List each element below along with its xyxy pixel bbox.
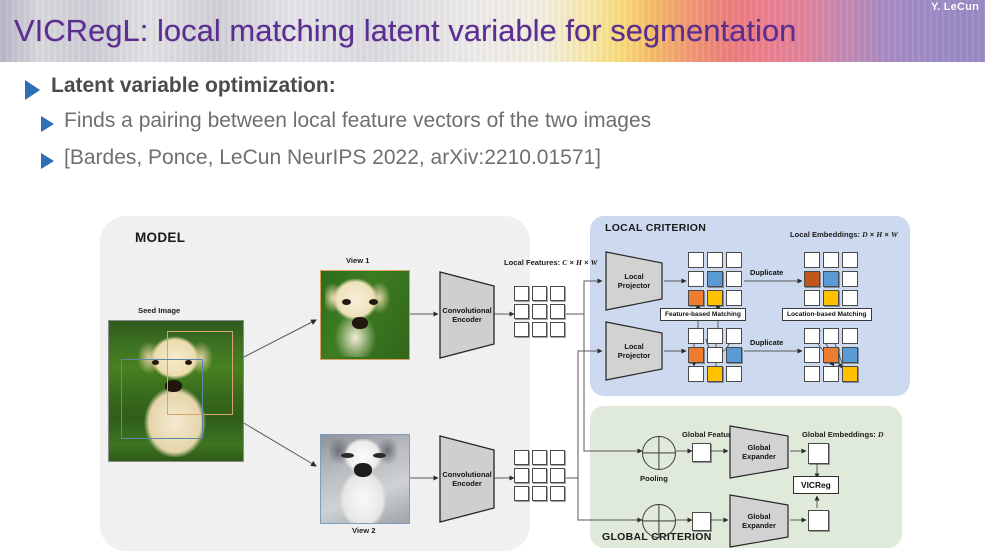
- embedding-cell: [726, 252, 742, 268]
- author-attribution: Y. LeCun: [931, 1, 979, 13]
- embedding-cell: [804, 328, 820, 344]
- embedding-cell-orange: [823, 347, 839, 363]
- duplicate-label-bottom: Duplicate: [750, 338, 783, 347]
- bullet-label-1: Latent variable optimization:: [51, 70, 336, 100]
- embedding-cell-orange: [688, 290, 704, 306]
- embedding-cell: [823, 252, 839, 268]
- pooling-circle-top: [642, 436, 676, 470]
- feature-cell: [550, 304, 565, 319]
- embedding-cell: [688, 328, 704, 344]
- feature-cell: [532, 468, 547, 483]
- embedding-cell-yellow: [707, 290, 723, 306]
- feature-cell: [550, 486, 565, 501]
- local-projector-label: LocalProjector: [604, 342, 664, 360]
- embedding-cell: [804, 290, 820, 306]
- view1-image: [320, 270, 410, 360]
- local-features-grid-top: [514, 286, 565, 337]
- view1-label: View 1: [346, 256, 370, 265]
- embedding-cell: [804, 252, 820, 268]
- feature-cell: [550, 286, 565, 301]
- local-embedding-grid-top-left: [688, 252, 742, 306]
- global-embedding-cell-top: [808, 443, 829, 464]
- embedding-cell-blue: [842, 347, 858, 363]
- embedding-cell: [688, 271, 704, 287]
- conv-encoder-label: ConvolutionalEncoder: [438, 306, 496, 324]
- global-expander-top: GlobalExpander: [728, 424, 790, 480]
- feature-cell: [532, 322, 547, 337]
- crop-box-blue: [121, 359, 203, 439]
- seed-image-label: Seed Image: [138, 306, 180, 315]
- triangle-right-icon: [41, 116, 54, 132]
- duplicate-label-top: Duplicate: [750, 268, 783, 277]
- embedding-cell: [688, 252, 704, 268]
- feature-cell: [514, 304, 529, 319]
- local-embedding-grid-top-right: [804, 252, 858, 306]
- embedding-cell-blue: [726, 347, 742, 363]
- embedding-cell-yellow: [842, 366, 858, 382]
- local-embeddings-label: Local Embeddings: D × H × W: [790, 230, 898, 239]
- feature-cell: [514, 486, 529, 501]
- triangle-right-icon: [41, 153, 54, 169]
- local-embedding-grid-bottom-left: [688, 328, 742, 382]
- dog-nose: [352, 317, 368, 329]
- global-expander-bottom: GlobalExpander: [728, 493, 790, 549]
- global-expander-label: GlobalExpander: [728, 512, 790, 530]
- feature-cell: [532, 486, 547, 501]
- dog-eye: [341, 453, 354, 458]
- dog-eye: [373, 453, 386, 458]
- feature-cell: [514, 286, 529, 301]
- local-panel-title: LOCAL CRITERION: [605, 222, 706, 234]
- view2-dog-illustration: [329, 439, 397, 523]
- embedding-cell-yellow: [823, 290, 839, 306]
- local-projector-label: LocalProjector: [604, 272, 664, 290]
- local-features-label: Local Features: C × H × W: [504, 258, 597, 267]
- seed-image: [108, 320, 244, 462]
- embedding-cell: [707, 252, 723, 268]
- feature-cell: [550, 322, 565, 337]
- dog-eye: [342, 299, 351, 305]
- bullet-item-1: Latent variable optimization:: [0, 70, 985, 100]
- dog-eye: [369, 299, 378, 305]
- bullet-item-3: [Bardes, Ponce, LeCun NeurIPS 2022, arXi…: [0, 143, 985, 172]
- bullet-label-3: [Bardes, Ponce, LeCun NeurIPS 2022, arXi…: [64, 143, 601, 172]
- embedding-cell: [726, 290, 742, 306]
- embedding-cell: [804, 366, 820, 382]
- feature-based-matching-box: Feature-based Matching: [660, 308, 746, 321]
- embedding-cell: [823, 328, 839, 344]
- embedding-cell: [842, 271, 858, 287]
- global-embedding-cell-bottom: [808, 510, 829, 531]
- convolutional-encoder-bottom: ConvolutionalEncoder: [438, 434, 496, 524]
- feature-cell: [514, 322, 529, 337]
- local-embedding-grid-bottom-right: [804, 328, 858, 382]
- embedding-cell-orange: [688, 347, 704, 363]
- embedding-cell-blue: [707, 271, 723, 287]
- feature-cell: [514, 450, 529, 465]
- local-projector-top: LocalProjector: [604, 250, 664, 312]
- bullet-list: Latent variable optimization: Finds a pa…: [0, 62, 985, 172]
- local-projector-bottom: LocalProjector: [604, 320, 664, 382]
- embedding-cell-yellow: [707, 366, 723, 382]
- pooling-label: Pooling: [640, 474, 668, 483]
- embedding-cell-dark-orange: [804, 271, 820, 287]
- embedding-cell: [842, 290, 858, 306]
- view2-image: [320, 434, 410, 524]
- embedding-cell: [842, 252, 858, 268]
- page-title: VICRegL: local matching latent variable …: [14, 11, 796, 51]
- embedding-cell: [726, 366, 742, 382]
- architecture-diagram: MODEL LOCAL CRITERION GLOBAL CRITERION S…: [90, 208, 920, 551]
- embedding-cell: [707, 347, 723, 363]
- conv-encoder-label: ConvolutionalEncoder: [438, 470, 496, 488]
- global-feature-cell-bottom: [692, 512, 711, 531]
- location-based-matching-box: Location-based Matching: [782, 308, 872, 321]
- triangle-right-icon: [25, 80, 40, 100]
- model-panel-title: MODEL: [135, 230, 185, 245]
- convolutional-encoder-top: ConvolutionalEncoder: [438, 270, 496, 360]
- feature-cell: [532, 304, 547, 319]
- embedding-cell: [688, 366, 704, 382]
- embedding-cell-blue: [823, 271, 839, 287]
- view2-label: View 2: [352, 526, 376, 535]
- embedding-cell: [726, 328, 742, 344]
- embedding-cell: [823, 366, 839, 382]
- bullet-label-2: Finds a pairing between local feature ve…: [64, 106, 651, 135]
- global-embeddings-label: Global Embeddings: D: [802, 430, 883, 439]
- feature-cell: [532, 450, 547, 465]
- slide-header: VICRegL: local matching latent variable …: [0, 0, 985, 62]
- bullet-item-2: Finds a pairing between local feature ve…: [0, 106, 985, 135]
- feature-cell: [514, 468, 529, 483]
- embedding-cell: [707, 328, 723, 344]
- embedding-cell: [804, 347, 820, 363]
- global-feature-cell-top: [692, 443, 711, 462]
- pooling-circle-bottom: [642, 504, 676, 538]
- global-expander-label: GlobalExpander: [728, 443, 790, 461]
- vicreg-box: VICReg: [793, 476, 839, 494]
- view1-dog-illustration: [325, 277, 391, 357]
- embedding-cell: [842, 328, 858, 344]
- feature-cell: [550, 468, 565, 483]
- feature-cell: [550, 450, 565, 465]
- dog-nose: [354, 463, 372, 477]
- feature-cell: [532, 286, 547, 301]
- local-features-grid-bottom: [514, 450, 565, 501]
- embedding-cell: [726, 271, 742, 287]
